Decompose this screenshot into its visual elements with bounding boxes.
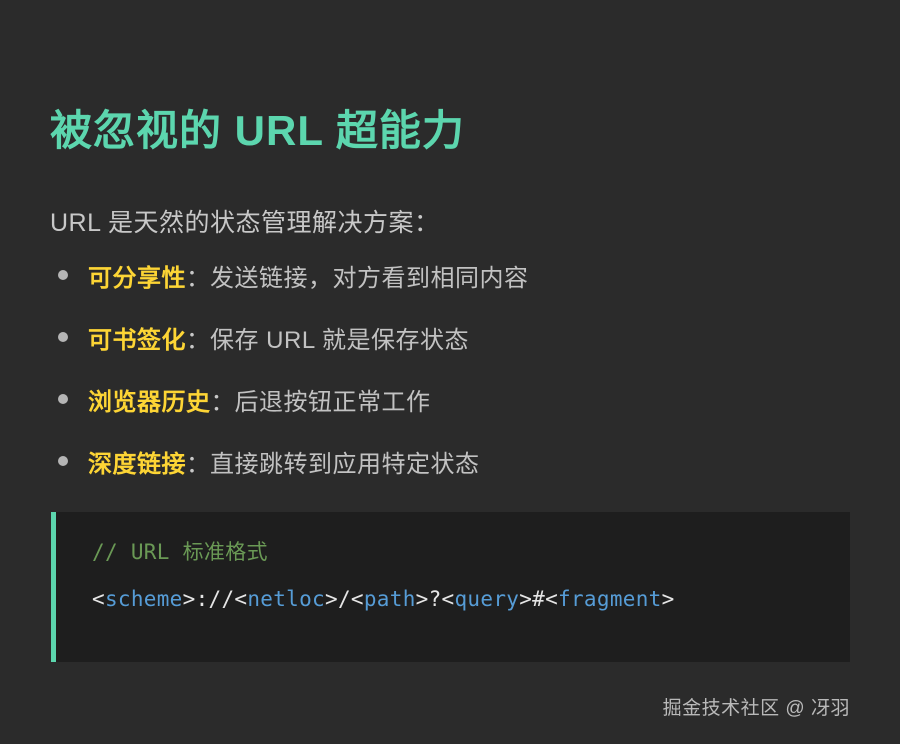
list-item-term: 浏览器历史 bbox=[88, 382, 211, 417]
list-item-term: 可分享性 bbox=[88, 258, 186, 293]
code-token-identifier: netloc bbox=[247, 587, 325, 611]
list-item-separator: ： bbox=[186, 258, 210, 293]
list-item-description: 发送链接，对方看到相同内容 bbox=[210, 258, 529, 293]
list-item-description: 直接跳转到应用特定状态 bbox=[210, 444, 480, 479]
code-token-punctuation: >#< bbox=[519, 587, 558, 611]
page-title: 被忽视的 URL 超能力 bbox=[50, 106, 465, 156]
code-token-identifier: scheme bbox=[105, 587, 183, 611]
code-url-format: <scheme>://<netloc>/<path>?<query>#<frag… bbox=[92, 589, 850, 610]
list-item: 可分享性：发送链接，对方看到相同内容 bbox=[50, 244, 840, 306]
list-item-description: 后退按钮正常工作 bbox=[235, 382, 431, 417]
slide-subtitle: URL 是天然的状态管理解决方案： bbox=[50, 203, 440, 239]
list-item-description: 保存 URL 就是保存状态 bbox=[210, 320, 469, 355]
footer-attribution: 掘金技术社区 @ 冴羽 bbox=[663, 693, 850, 720]
list-item-term: 深度链接 bbox=[88, 444, 186, 479]
code-token-identifier: path bbox=[364, 587, 416, 611]
code-token-punctuation: >?< bbox=[416, 587, 455, 611]
code-token-identifier: fragment bbox=[558, 587, 662, 611]
code-token-punctuation: > bbox=[662, 587, 675, 611]
bullet-dot-icon bbox=[58, 332, 68, 342]
list-item: 可书签化：保存 URL 就是保存状态 bbox=[50, 306, 840, 368]
code-token-punctuation: < bbox=[92, 587, 105, 611]
feature-list: 可分享性：发送链接，对方看到相同内容 可书签化：保存 URL 就是保存状态 浏览… bbox=[50, 244, 840, 492]
list-item-term: 可书签化 bbox=[88, 320, 186, 355]
code-token-identifier: query bbox=[454, 587, 519, 611]
bullet-dot-icon bbox=[58, 394, 68, 404]
list-item-separator: ： bbox=[186, 320, 210, 355]
code-comment: // URL 标准格式 bbox=[92, 542, 850, 563]
list-item: 浏览器历史：后退按钮正常工作 bbox=[50, 368, 840, 430]
code-token-punctuation: >/< bbox=[325, 587, 364, 611]
code-block: // URL 标准格式 <scheme>://<netloc>/<path>?<… bbox=[51, 512, 850, 662]
bullet-dot-icon bbox=[58, 270, 68, 280]
slide-root: 被忽视的 URL 超能力 URL 是天然的状态管理解决方案： 可分享性：发送链接… bbox=[0, 0, 900, 744]
bullet-dot-icon bbox=[58, 456, 68, 466]
list-item: 深度链接：直接跳转到应用特定状态 bbox=[50, 430, 840, 492]
code-token-punctuation: >://< bbox=[183, 587, 248, 611]
list-item-separator: ： bbox=[211, 382, 235, 417]
list-item-separator: ： bbox=[186, 444, 210, 479]
